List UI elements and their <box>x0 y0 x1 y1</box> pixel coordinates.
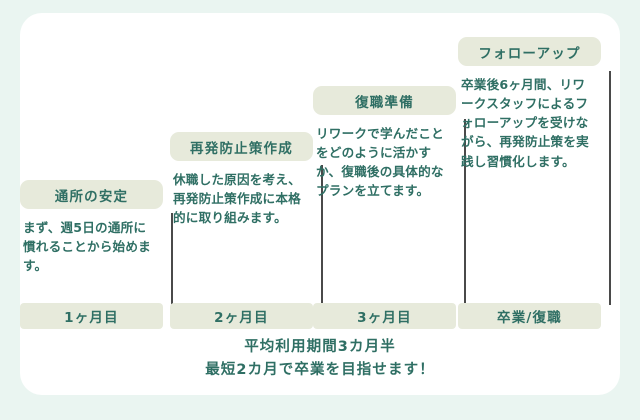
period-label-1: 1ヶ月目 <box>20 303 163 329</box>
period-label-2: 2ヶ月目 <box>170 303 313 329</box>
period-label-4: 卒業/復職 <box>458 303 601 329</box>
column-divider-4 <box>609 71 611 305</box>
stage-description-4: 卒業後6ヶ月間、リワークスタッフによるフォローアップを受けながら、再発防止策を実… <box>461 75 595 171</box>
stage-description-2: 休職した原因を考え、再発防止策作成に本格的に取り組みます。 <box>173 170 307 227</box>
summary-caption: 平均利用期間3カ月半 最短2カ月で卒業を目指せます！ <box>20 336 620 381</box>
caption-line-1: 平均利用期間3カ月半 <box>20 336 620 358</box>
stage-label-2: 再発防止策作成 <box>170 132 313 161</box>
stage-label-1: 通所の安定 <box>20 180 163 209</box>
period-label-3: 3ヶ月目 <box>313 303 456 329</box>
stage-description-1: まず、週5日の通所に慣れることから始めます。 <box>23 218 157 275</box>
caption-line-2: 最短2カ月で卒業を目指せます！ <box>20 359 620 381</box>
stage-label-4: フォローアップ <box>458 37 601 66</box>
roadmap-card: 通所の安定 まず、週5日の通所に慣れることから始めます。 1ヶ月目 再発防止策作… <box>20 13 620 395</box>
stage-description-3: リワークで学んだことをどのように活かすか、復職後の具体的なプランを立てます。 <box>316 124 450 201</box>
stage-label-3: 復職準備 <box>313 86 456 115</box>
